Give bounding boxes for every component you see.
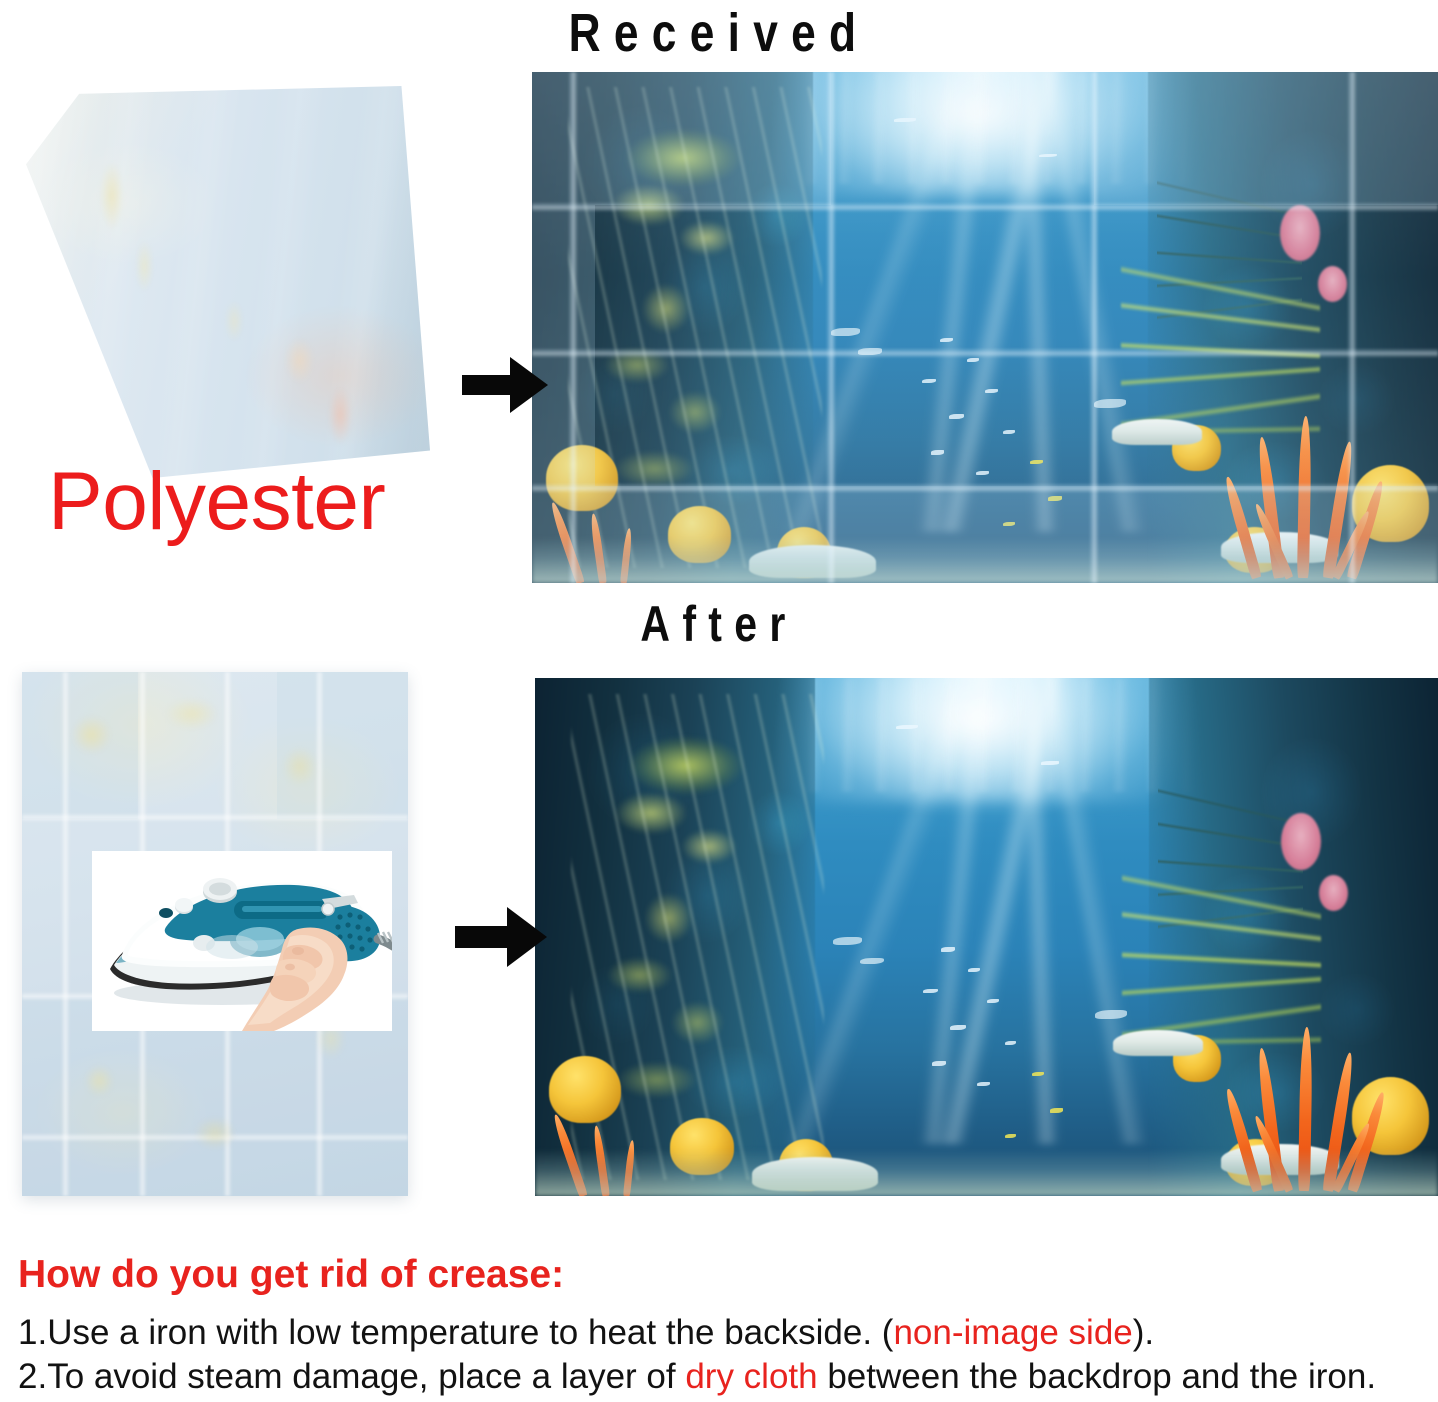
pink-coral xyxy=(1280,205,1320,261)
instructions-title: How do you get rid of crease: xyxy=(18,1252,1430,1298)
instruction-2-prefix: 2.To avoid steam damage, place a layer o… xyxy=(18,1357,685,1396)
after-heading: After xyxy=(129,595,1308,653)
fish xyxy=(932,1061,946,1066)
rock-ledge xyxy=(1112,419,1203,445)
instruction-1-suffix: ). xyxy=(1133,1313,1154,1352)
fish xyxy=(931,450,945,455)
folded-fabric-photo xyxy=(22,86,430,478)
fish xyxy=(896,725,918,729)
seabed xyxy=(535,1149,1438,1196)
pink-coral xyxy=(1319,875,1348,911)
fish xyxy=(941,947,955,952)
material-label: Polyester xyxy=(48,459,385,545)
instruction-line-2: 2.To avoid steam damage, place a layer o… xyxy=(18,1355,1430,1399)
fish xyxy=(1048,496,1062,501)
seabed xyxy=(532,537,1438,583)
instruction-2-suffix: between the backdrop and the iron. xyxy=(818,1357,1376,1396)
right-arrow-icon xyxy=(455,905,547,974)
pink-coral xyxy=(1281,813,1321,870)
instruction-2-highlight: dry cloth xyxy=(685,1357,817,1396)
instructions-block: How do you get rid of crease: 1.Use a ir… xyxy=(18,1252,1430,1399)
fish xyxy=(1050,1108,1064,1113)
instruction-1-highlight: non-image side xyxy=(893,1313,1132,1352)
fish xyxy=(976,471,989,475)
iron-demo-photo xyxy=(92,851,392,1031)
instruction-line-1: 1.Use a iron with low temperature to hea… xyxy=(18,1311,1430,1355)
fish xyxy=(1003,430,1015,434)
fish xyxy=(1003,522,1015,526)
fish xyxy=(858,348,882,355)
fish xyxy=(1095,1010,1128,1019)
fish xyxy=(1032,1072,1045,1076)
right-arrow-icon xyxy=(462,355,548,420)
rock-ledge xyxy=(1113,1030,1203,1056)
fish xyxy=(985,389,998,393)
after-backdrop-image xyxy=(535,678,1438,1196)
reef-artwork xyxy=(532,72,1438,583)
received-backdrop-image xyxy=(532,72,1438,583)
reef-artwork xyxy=(535,678,1438,1196)
fish xyxy=(1041,761,1059,765)
instruction-1-prefix: 1.Use a iron with low temperature to hea… xyxy=(18,1313,893,1352)
fabric-print-bleed xyxy=(22,86,430,478)
fish xyxy=(831,328,860,336)
fish xyxy=(1005,1041,1017,1045)
received-heading: Received xyxy=(129,2,1308,64)
